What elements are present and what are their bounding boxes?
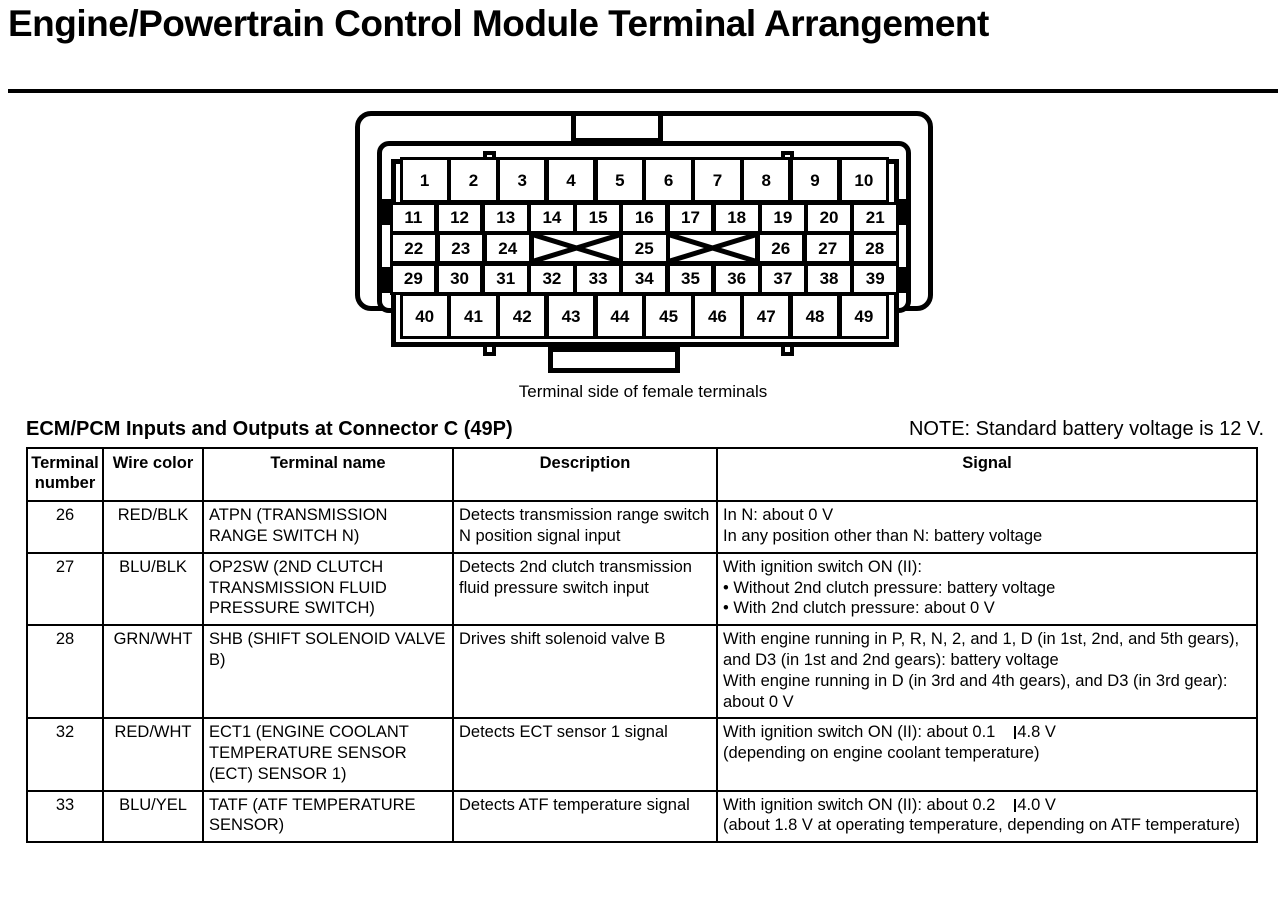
cell-wire-color: BLU/YEL — [103, 791, 203, 843]
signal-line: In any position other than N: battery vo… — [723, 526, 1251, 547]
terminal-cell-29: 29 — [390, 263, 438, 295]
terminal-cell-25: 25 — [620, 232, 669, 264]
cell-description: Detects ECT sensor 1 signal — [453, 718, 717, 790]
table-row: 28GRN/WHTSHB (SHIFT SOLENOID VALVE B)Dri… — [27, 625, 1257, 718]
terminal-cell-21: 21 — [851, 202, 899, 234]
connector-bottom-tab — [548, 347, 680, 373]
connector-top-tab — [571, 111, 663, 143]
page-title: Engine/Powertrain Control Module Termina… — [0, 0, 1286, 45]
terminal-cell-2: 2 — [448, 157, 498, 203]
header-terminal-name: Terminal name — [203, 448, 453, 502]
cell-signal: With ignition switch ON (II):• Without 2… — [717, 553, 1257, 625]
terminal-cell-40: 40 — [400, 293, 450, 339]
signal-line: With engine running in D (in 3rd and 4th… — [723, 671, 1251, 713]
cell-terminal-name: TATF (ATF TEMPERATURE SENSOR) — [203, 791, 453, 843]
terminal-cell-12: 12 — [436, 202, 484, 234]
signal-line: With engine running in P, R, N, 2, and 1… — [723, 629, 1251, 671]
terminal-cell-16: 16 — [620, 202, 668, 234]
terminal-cell-36: 36 — [713, 263, 761, 295]
terminal-cell-44: 44 — [595, 293, 645, 339]
terminal-cell-34: 34 — [620, 263, 668, 295]
signal-line: With ignition switch ON (II): about 0.14… — [723, 722, 1251, 743]
blank-terminal-slot — [531, 232, 622, 264]
cell-terminal-number: 32 — [27, 718, 103, 790]
table-header-row: Terminal number Wire color Terminal name… — [27, 448, 1257, 502]
pin-row: 2930313233343536373839 — [391, 264, 899, 295]
terminal-cell-1: 1 — [400, 157, 450, 203]
table-row: 33BLU/YELTATF (ATF TEMPERATURE SENSOR)De… — [27, 791, 1257, 843]
terminal-cell-41: 41 — [448, 293, 498, 339]
cell-description: Detects transmission range switch N posi… — [453, 501, 717, 553]
terminal-cell-18: 18 — [713, 202, 761, 234]
terminal-cell-33: 33 — [574, 263, 622, 295]
terminal-cell-27: 27 — [804, 232, 853, 264]
section-title: ECM/PCM Inputs and Outputs at Connector … — [26, 418, 513, 441]
terminal-cell-46: 46 — [692, 293, 742, 339]
terminal-pin-grid: 1234567891011121314151617181920212223242… — [391, 159, 899, 347]
terminal-cell-26: 26 — [757, 232, 806, 264]
signal-bullet-line: • Without 2nd clutch pressure: battery v… — [723, 578, 1251, 599]
terminal-cell-13: 13 — [482, 202, 530, 234]
cell-signal: With engine running in P, R, N, 2, and 1… — [717, 625, 1257, 718]
terminal-cell-49: 49 — [839, 293, 889, 339]
cell-description: Detects ATF temperature signal — [453, 791, 717, 843]
cell-signal: In N: about 0 VIn any position other tha… — [717, 501, 1257, 553]
terminal-cell-6: 6 — [643, 157, 693, 203]
section-note: NOTE: Standard battery voltage is 12 V. — [909, 418, 1266, 441]
cell-signal: With ignition switch ON (II): about 0.24… — [717, 791, 1257, 843]
signal-line: In N: about 0 V — [723, 505, 1251, 526]
table-row: 26RED/BLKATPN (TRANSMISSION RANGE SWITCH… — [27, 501, 1257, 553]
cell-wire-color: BLU/BLK — [103, 553, 203, 625]
signal-line: (depending on engine coolant temperature… — [723, 743, 1251, 764]
terminal-cell-31: 31 — [482, 263, 530, 295]
table-row: 27BLU/BLKOP2SW (2ND CLUTCH TRANSMISSION … — [27, 553, 1257, 625]
terminal-cell-28: 28 — [851, 232, 900, 264]
terminal-cell-19: 19 — [759, 202, 807, 234]
terminal-cell-43: 43 — [546, 293, 596, 339]
terminal-cell-47: 47 — [741, 293, 791, 339]
terminal-cell-39: 39 — [851, 263, 899, 295]
cell-signal: With ignition switch ON (II): about 0.14… — [717, 718, 1257, 790]
terminal-cell-30: 30 — [436, 263, 484, 295]
terminal-cell-17: 17 — [667, 202, 715, 234]
terminal-cell-23: 23 — [437, 232, 486, 264]
io-table: Terminal number Wire color Terminal name… — [26, 447, 1258, 844]
header-signal: Signal — [717, 448, 1257, 502]
cell-terminal-name: OP2SW (2ND CLUTCH TRANSMISSION FLUID PRE… — [203, 553, 453, 625]
signal-line: With ignition switch ON (II): about 0.24… — [723, 795, 1251, 816]
terminal-cell-4: 4 — [546, 157, 596, 203]
pin-row: 1112131415161718192021 — [391, 203, 899, 234]
cell-description: Drives shift solenoid valve B — [453, 625, 717, 718]
signal-bullet-line: • With 2nd clutch pressure: about 0 V — [723, 598, 1251, 619]
terminal-cell-35: 35 — [667, 263, 715, 295]
terminal-cell-24: 24 — [484, 232, 533, 264]
terminal-cell-42: 42 — [497, 293, 547, 339]
terminal-cell-11: 11 — [390, 202, 438, 234]
cell-terminal-number: 26 — [27, 501, 103, 553]
pin-row: 12345678910 — [391, 159, 899, 204]
pin-row: 22232425262728 — [391, 234, 899, 265]
table-row: 32RED/WHTECT1 (ENGINE COOLANT TEMPERATUR… — [27, 718, 1257, 790]
terminal-cell-20: 20 — [805, 202, 853, 234]
terminal-cell-15: 15 — [574, 202, 622, 234]
cell-terminal-name: ECT1 (ENGINE COOLANT TEMPERATURE SENSOR … — [203, 718, 453, 790]
terminal-cell-5: 5 — [595, 157, 645, 203]
cell-wire-color: RED/WHT — [103, 718, 203, 790]
terminal-cell-45: 45 — [643, 293, 693, 339]
signal-line: (about 1.8 V at operating temperature, d… — [723, 815, 1251, 836]
terminal-cell-38: 38 — [805, 263, 853, 295]
cell-terminal-number: 27 — [27, 553, 103, 625]
diagram-caption: Terminal side of female terminals — [0, 382, 1286, 402]
section-header: ECM/PCM Inputs and Outputs at Connector … — [26, 418, 1266, 441]
cell-terminal-number: 33 — [27, 791, 103, 843]
signal-line: With ignition switch ON (II): — [723, 557, 1251, 578]
terminal-cell-48: 48 — [790, 293, 840, 339]
cell-terminal-name: ATPN (TRANSMISSION RANGE SWITCH N) — [203, 501, 453, 553]
terminal-cell-32: 32 — [528, 263, 576, 295]
terminal-cell-7: 7 — [692, 157, 742, 203]
cell-terminal-name: SHB (SHIFT SOLENOID VALVE B) — [203, 625, 453, 718]
terminal-cell-37: 37 — [759, 263, 807, 295]
connector-diagram: 1234567891011121314151617181920212223242… — [343, 103, 943, 378]
header-terminal-number: Terminal number — [27, 448, 103, 502]
terminal-cell-10: 10 — [839, 157, 889, 203]
pin-row: 40414243444546474849 — [391, 295, 899, 340]
terminal-cell-9: 9 — [790, 157, 840, 203]
cell-terminal-number: 28 — [27, 625, 103, 718]
cell-wire-color: RED/BLK — [103, 501, 203, 553]
terminal-cell-14: 14 — [528, 202, 576, 234]
terminal-cell-8: 8 — [741, 157, 791, 203]
blank-terminal-slot — [667, 232, 758, 264]
header-wire-color: Wire color — [103, 448, 203, 502]
terminal-cell-22: 22 — [390, 232, 439, 264]
terminal-cell-3: 3 — [497, 157, 547, 203]
header-description: Description — [453, 448, 717, 502]
title-divider — [8, 89, 1278, 93]
cell-description: Detects 2nd clutch transmission fluid pr… — [453, 553, 717, 625]
cell-wire-color: GRN/WHT — [103, 625, 203, 718]
